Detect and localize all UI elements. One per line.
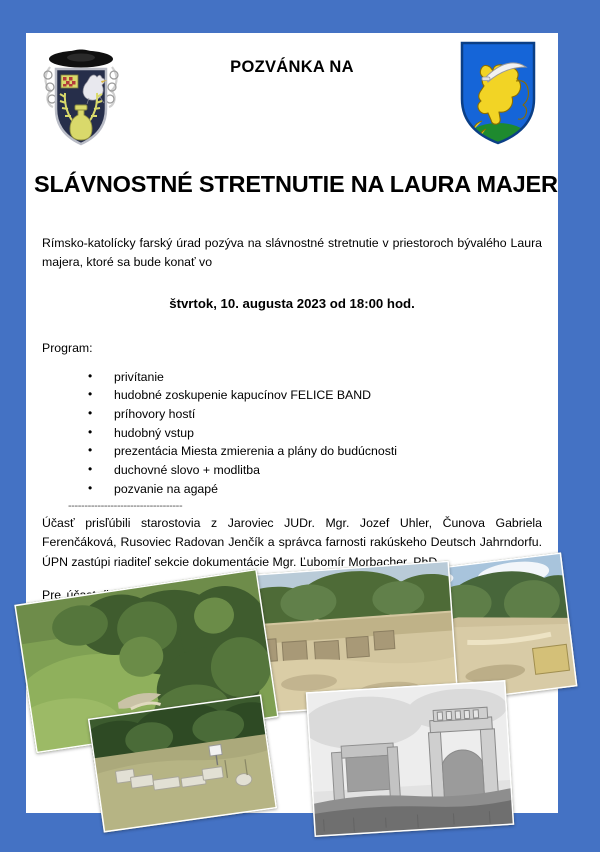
list-item: prezentácia Miesta zmierenia a plány do … — [88, 442, 542, 461]
intro-paragraph: Rímsko-katolícky farský úrad pozýva na s… — [42, 234, 542, 272]
list-item: príhovory hostí — [88, 405, 542, 424]
photo-stone-ruins-in-field — [88, 694, 277, 832]
list-item: hudobný vstup — [88, 424, 542, 443]
parish-coat-of-arms-icon — [34, 37, 128, 149]
page-title: SLÁVNOSTNÉ STRETNUTIE NA LAURA MAJERI — [26, 171, 558, 198]
event-datetime: štvrtok, 10. augusta 2023 od 18:00 hod. — [42, 294, 542, 314]
photo-collage — [0, 556, 600, 852]
photo-historical-bw-manor-ruin — [306, 680, 514, 837]
program-list: privítanie hudobné zoskupenie kapucínov … — [42, 368, 542, 499]
poster-header: POZVÁNKA NA — [26, 33, 558, 153]
list-item: pozvanie na agapé — [88, 480, 542, 499]
invitation-poster: POZVÁNKA NA — [0, 0, 600, 852]
list-item: privítanie — [88, 368, 542, 387]
list-item: duchovné slovo + modlitba — [88, 461, 542, 480]
municipal-coat-of-arms-icon — [452, 37, 544, 149]
program-label: Program: — [42, 339, 542, 358]
list-item: hudobné zoskupenie kapucínov FELICE BAND — [88, 386, 542, 405]
dashed-separator: ----------------------------------- — [68, 501, 210, 512]
